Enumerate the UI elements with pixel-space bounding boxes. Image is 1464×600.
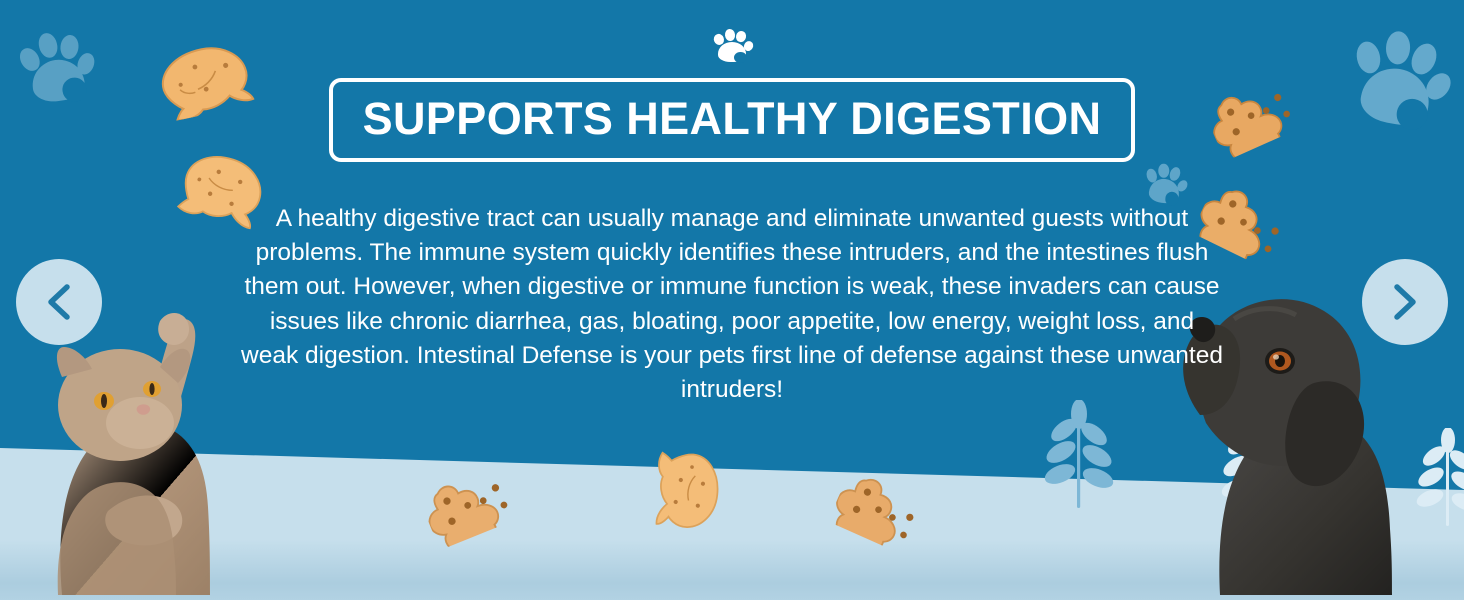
leaf-fern-icon-center-right <box>1034 400 1124 510</box>
title-box: SUPPORTS HEALTHY DIGESTION <box>329 78 1136 162</box>
body-paragraph: A healthy digestive tract can usually ma… <box>240 202 1225 408</box>
carousel-next-button[interactable] <box>1362 259 1448 345</box>
treat-fish-icon-bottom-center <box>648 446 728 537</box>
paw-print-icon-header <box>710 26 754 64</box>
banner-content: SUPPORTS HEALTHY DIGESTION A healthy dig… <box>0 0 1464 408</box>
promo-banner: SUPPORTS HEALTHY DIGESTION A healthy dig… <box>0 0 1464 600</box>
page-title: SUPPORTS HEALTHY DIGESTION <box>363 96 1102 142</box>
chevron-right-icon <box>1388 282 1422 322</box>
carousel-prev-button[interactable] <box>16 259 102 345</box>
chevron-left-icon <box>42 282 76 322</box>
